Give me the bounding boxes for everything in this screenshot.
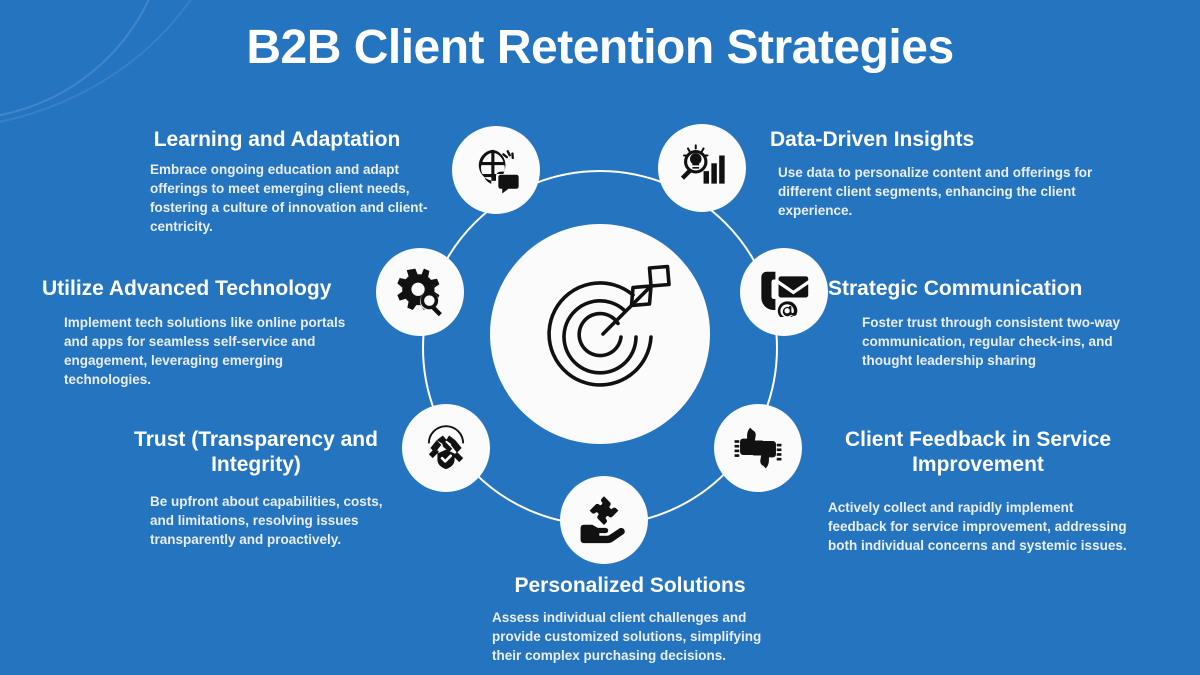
thumbs-up-down-icon [733, 423, 783, 473]
strategy-wheel-diagram [380, 128, 820, 568]
strategy-block-personalized: Personalized Solutions Assess individual… [470, 574, 790, 665]
strategy-body-personalized: Assess individual client challenges and … [470, 606, 790, 665]
strategy-heading-personalized: Personalized Solutions [470, 574, 790, 599]
strategy-block-technology: Utilize Advanced Technology Implement te… [42, 277, 372, 389]
strategy-body-communication: Foster trust through consistent two-way … [828, 309, 1148, 370]
node-utilize-advanced-technology[interactable] [376, 248, 464, 336]
target-arrow-icon [525, 259, 675, 409]
strategy-body-trust: Be upfront about capabilities, costs, an… [112, 485, 400, 549]
strategy-body-technology: Implement tech solutions like online por… [42, 309, 372, 390]
strategy-body-feedback: Actively collect and rapidly implement f… [828, 485, 1128, 555]
globe-speech-bubble-icon [471, 145, 521, 195]
center-target-circle [490, 224, 710, 444]
strategy-body-learning: Embrace ongoing education and adapt offe… [118, 160, 436, 237]
strategy-block-data: Data-Driven Insights Use data to persona… [770, 128, 1100, 220]
strategy-block-trust: Trust (Transparency and Integrity) Be up… [112, 428, 400, 549]
phone-envelope-at-icon [759, 267, 809, 317]
strategy-block-learning: Learning and Adaptation Embrace ongoing … [118, 128, 436, 236]
node-learning-and-adaptation[interactable] [452, 126, 540, 214]
strategy-block-communication: Strategic Communication Foster trust thr… [828, 277, 1148, 370]
node-trust-transparency-integrity[interactable] [402, 404, 490, 492]
strategy-heading-communication: Strategic Communication [828, 277, 1148, 302]
strategy-heading-feedback: Client Feedback in Service Improvement [828, 428, 1128, 478]
strategy-body-data: Use data to personalize content and offe… [770, 160, 1100, 220]
strategy-heading-data: Data-Driven Insights [770, 128, 1100, 153]
strategy-block-feedback: Client Feedback in Service Improvement A… [828, 428, 1128, 555]
node-strategic-communication[interactable] [740, 248, 828, 336]
node-personalized-solutions[interactable] [560, 476, 648, 564]
hand-puzzle-icon [579, 495, 629, 545]
page-title: B2B Client Retention Strategies [0, 22, 1200, 75]
node-client-feedback-in-service-improvement[interactable] [714, 404, 802, 492]
node-data-driven-insights[interactable] [658, 124, 746, 212]
handshake-shield-check-icon [421, 423, 471, 473]
magnifier-lightbulb-barchart-icon [677, 143, 727, 193]
gear-magnifier-icon [395, 267, 445, 317]
strategy-heading-trust: Trust (Transparency and Integrity) [112, 428, 400, 478]
strategy-heading-technology: Utilize Advanced Technology [42, 277, 372, 302]
strategy-heading-learning: Learning and Adaptation [118, 128, 436, 153]
